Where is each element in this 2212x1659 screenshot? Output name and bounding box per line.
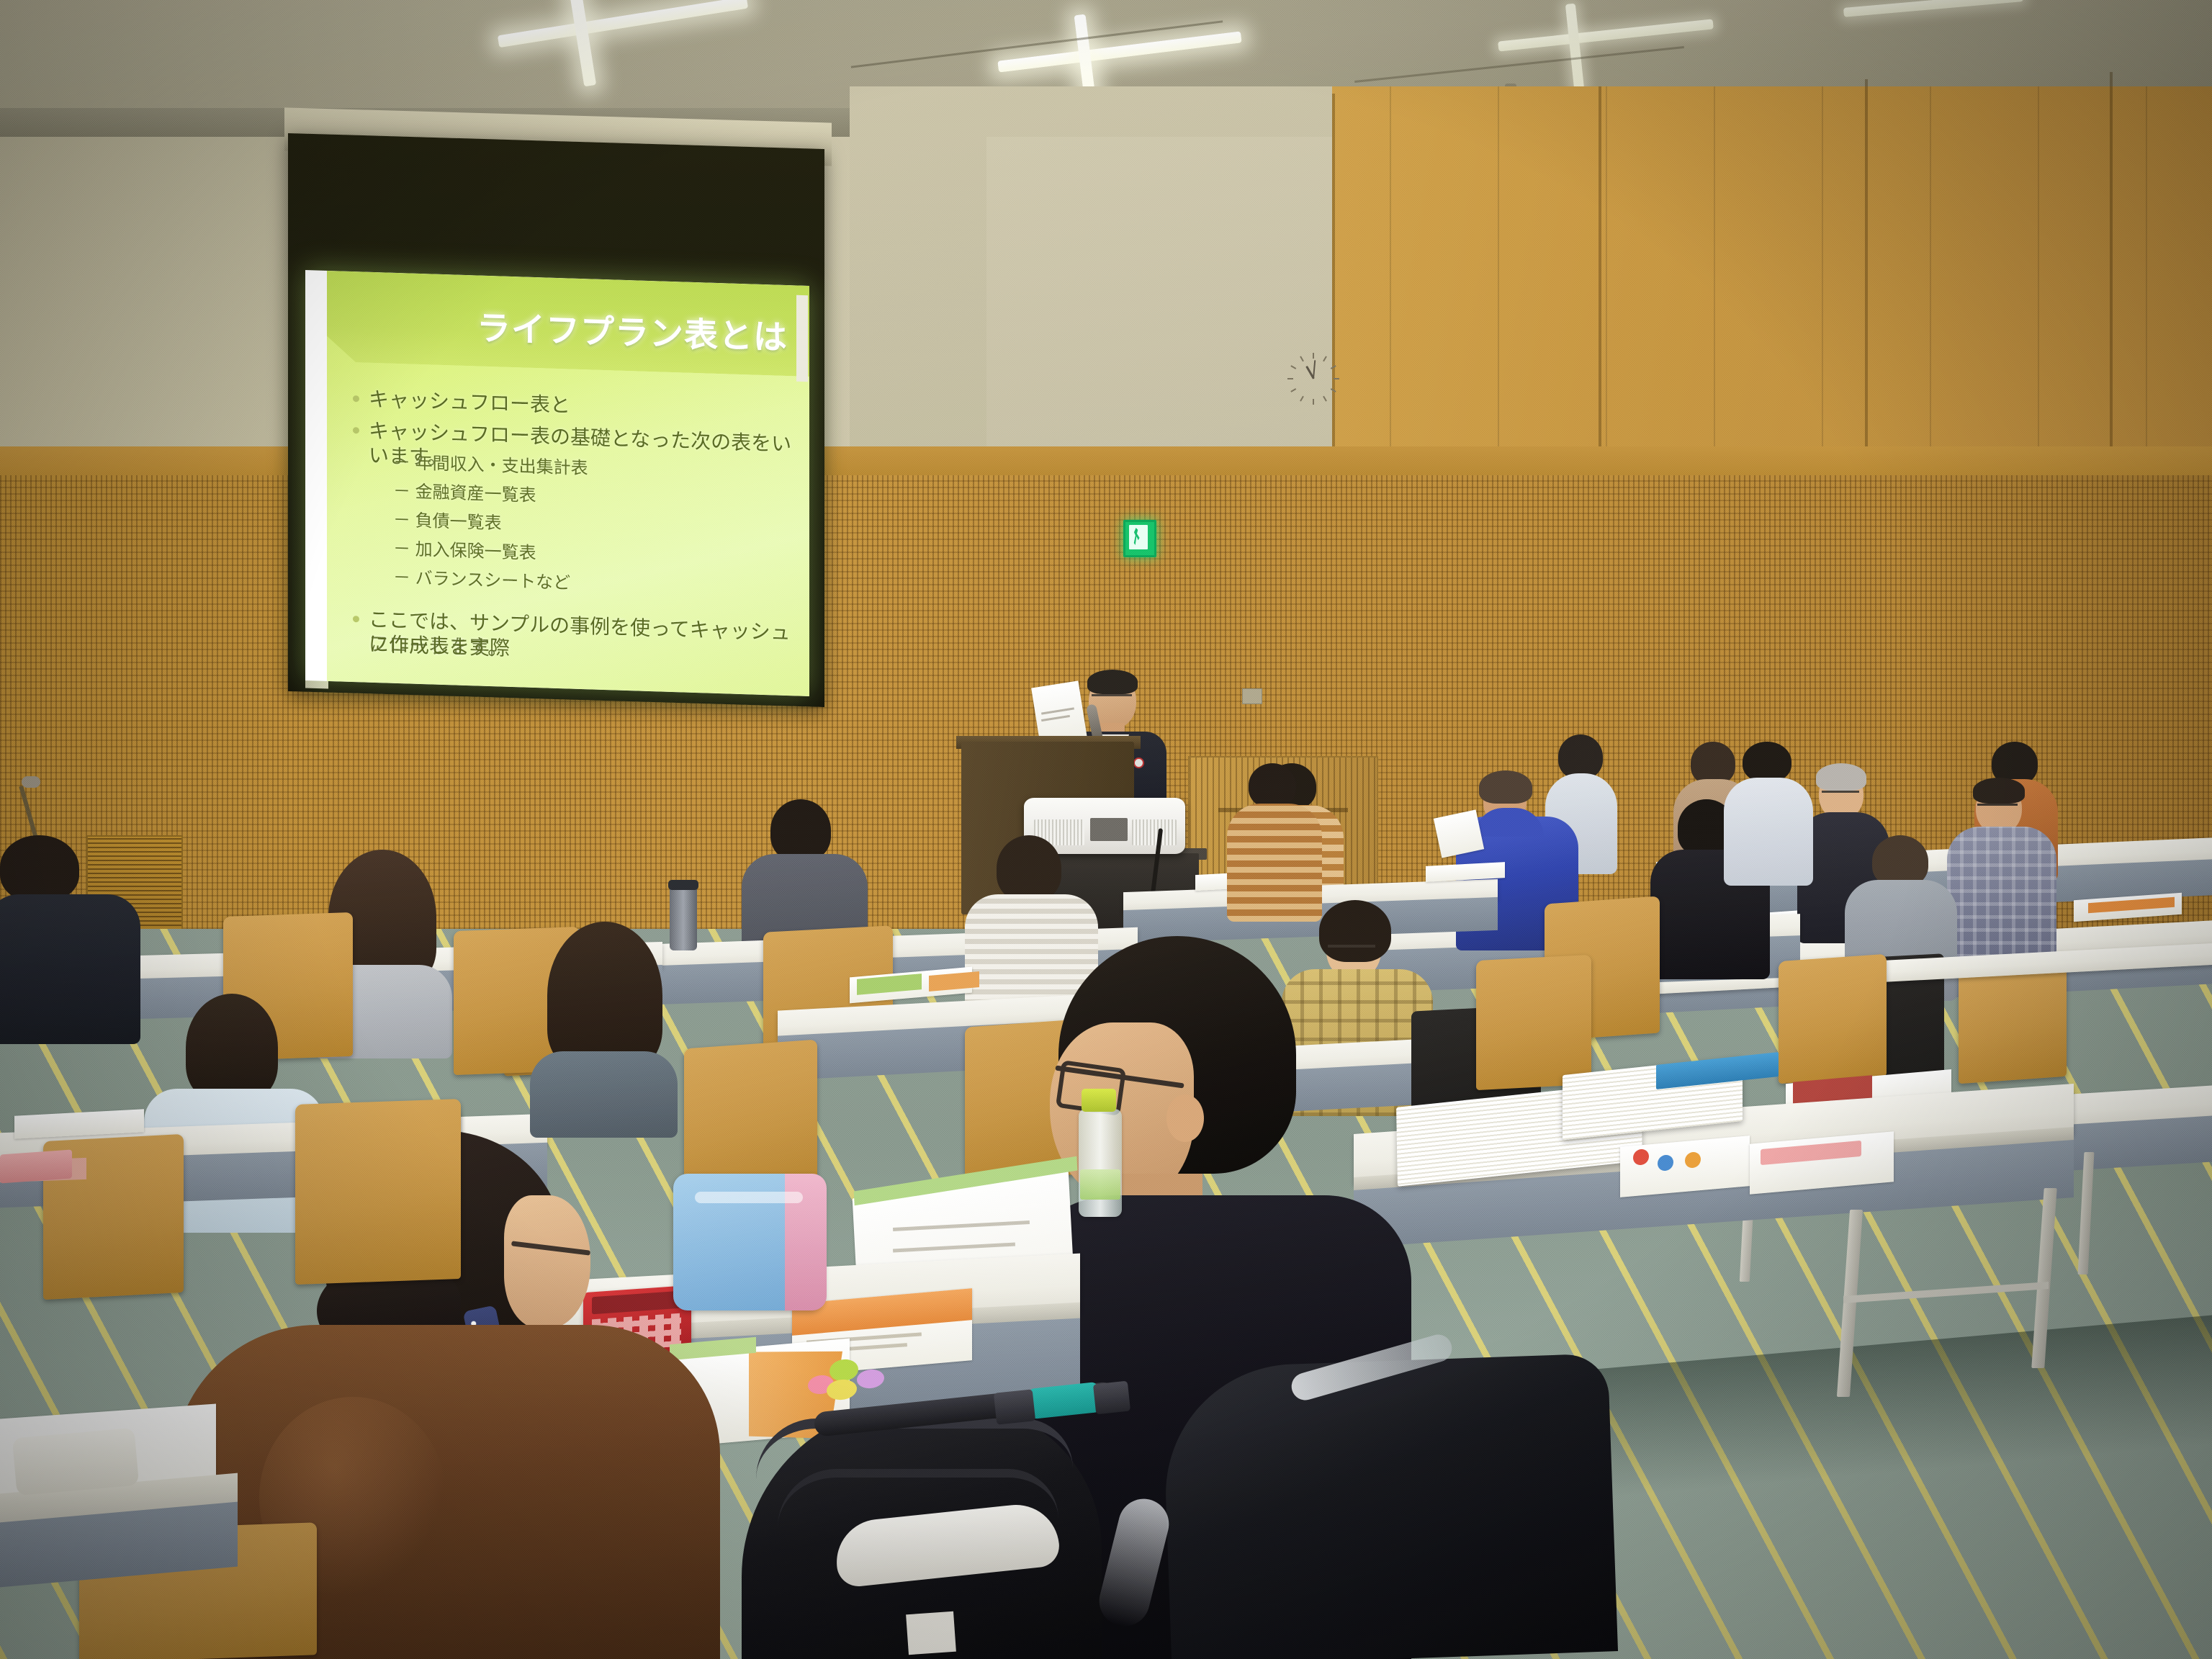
slide-sub-3: － 負債一覧表 [393, 511, 502, 535]
torso [530, 1051, 678, 1138]
projector-vent [1132, 819, 1177, 845]
ear [1166, 1094, 1204, 1142]
slide-sub-5: － バランスシートなど [393, 568, 570, 595]
emergency-exit-sign [1123, 520, 1156, 557]
chair [295, 1099, 461, 1285]
head-hair [1479, 770, 1532, 804]
head-hair [1743, 742, 1791, 782]
projected-slide: ライフプラン表とは キャッシュフロー表と キャッシュフロー表の基礎となった次の表… [305, 270, 809, 696]
stroller-tag [906, 1611, 956, 1655]
bottle-cap [1082, 1089, 1116, 1112]
chair [1779, 954, 1887, 1084]
slide-bullet-1: キャッシュフロー表と [369, 387, 570, 418]
stroller-clamp [1093, 1381, 1130, 1415]
head-hair [0, 835, 79, 902]
head-hair [1249, 763, 1296, 808]
attendee-left-dark-jacket [0, 835, 144, 1044]
glasses-icon [1822, 791, 1859, 793]
chair [1476, 955, 1591, 1090]
head-hair [186, 994, 278, 1102]
torso [0, 894, 140, 1044]
slide-sub-2: － 金融資産一覧表 [393, 482, 536, 507]
presenter-glasses [1092, 694, 1132, 696]
seminar-room-photo: ライフプラン表とは キャッシュフロー表と キャッシュフロー表の基礎となった次の表… [0, 0, 2212, 1659]
water-bottle [1079, 1109, 1122, 1217]
coat-draped [1161, 1353, 1618, 1659]
head-hair [1973, 778, 2025, 804]
wall-clock [1287, 353, 1339, 405]
attendee-right-white-shirt-b [1721, 742, 1815, 886]
bottle-label [1080, 1169, 1120, 1200]
microphone-head-icon [22, 776, 40, 788]
wall-outlet [1242, 688, 1262, 704]
slide-sub-4: － 加入保険一覧表 [393, 539, 536, 565]
white-bag [12, 1428, 139, 1496]
clock-minute-hand [1313, 360, 1316, 379]
stroller-handle-grip [1028, 1382, 1100, 1419]
screen-right-edge [796, 295, 808, 382]
grey-hair [1816, 763, 1866, 791]
head-hair [997, 835, 1061, 902]
chair [1959, 961, 2067, 1084]
pink-item [0, 1150, 72, 1184]
presenter-hair [1087, 670, 1138, 694]
slide-title: ライフプラン表とは [477, 300, 788, 359]
face [504, 1195, 590, 1328]
slide-closing-2: に作成します。 [369, 632, 508, 661]
stroller-clamp [994, 1389, 1035, 1424]
tumbler-lid [668, 880, 698, 890]
torso-plaid [1947, 827, 2056, 958]
head-hair [770, 799, 831, 861]
attendee-right-plaid-shirt [1944, 778, 2059, 958]
presenter-lapel-pin [1133, 757, 1144, 768]
torso [1724, 778, 1813, 886]
attendee-mid-presenter-assist [1224, 763, 1325, 922]
glasses-icon [1977, 804, 2018, 806]
attendee-left-long-hair-b [526, 922, 680, 1138]
long-hair [547, 922, 662, 1069]
